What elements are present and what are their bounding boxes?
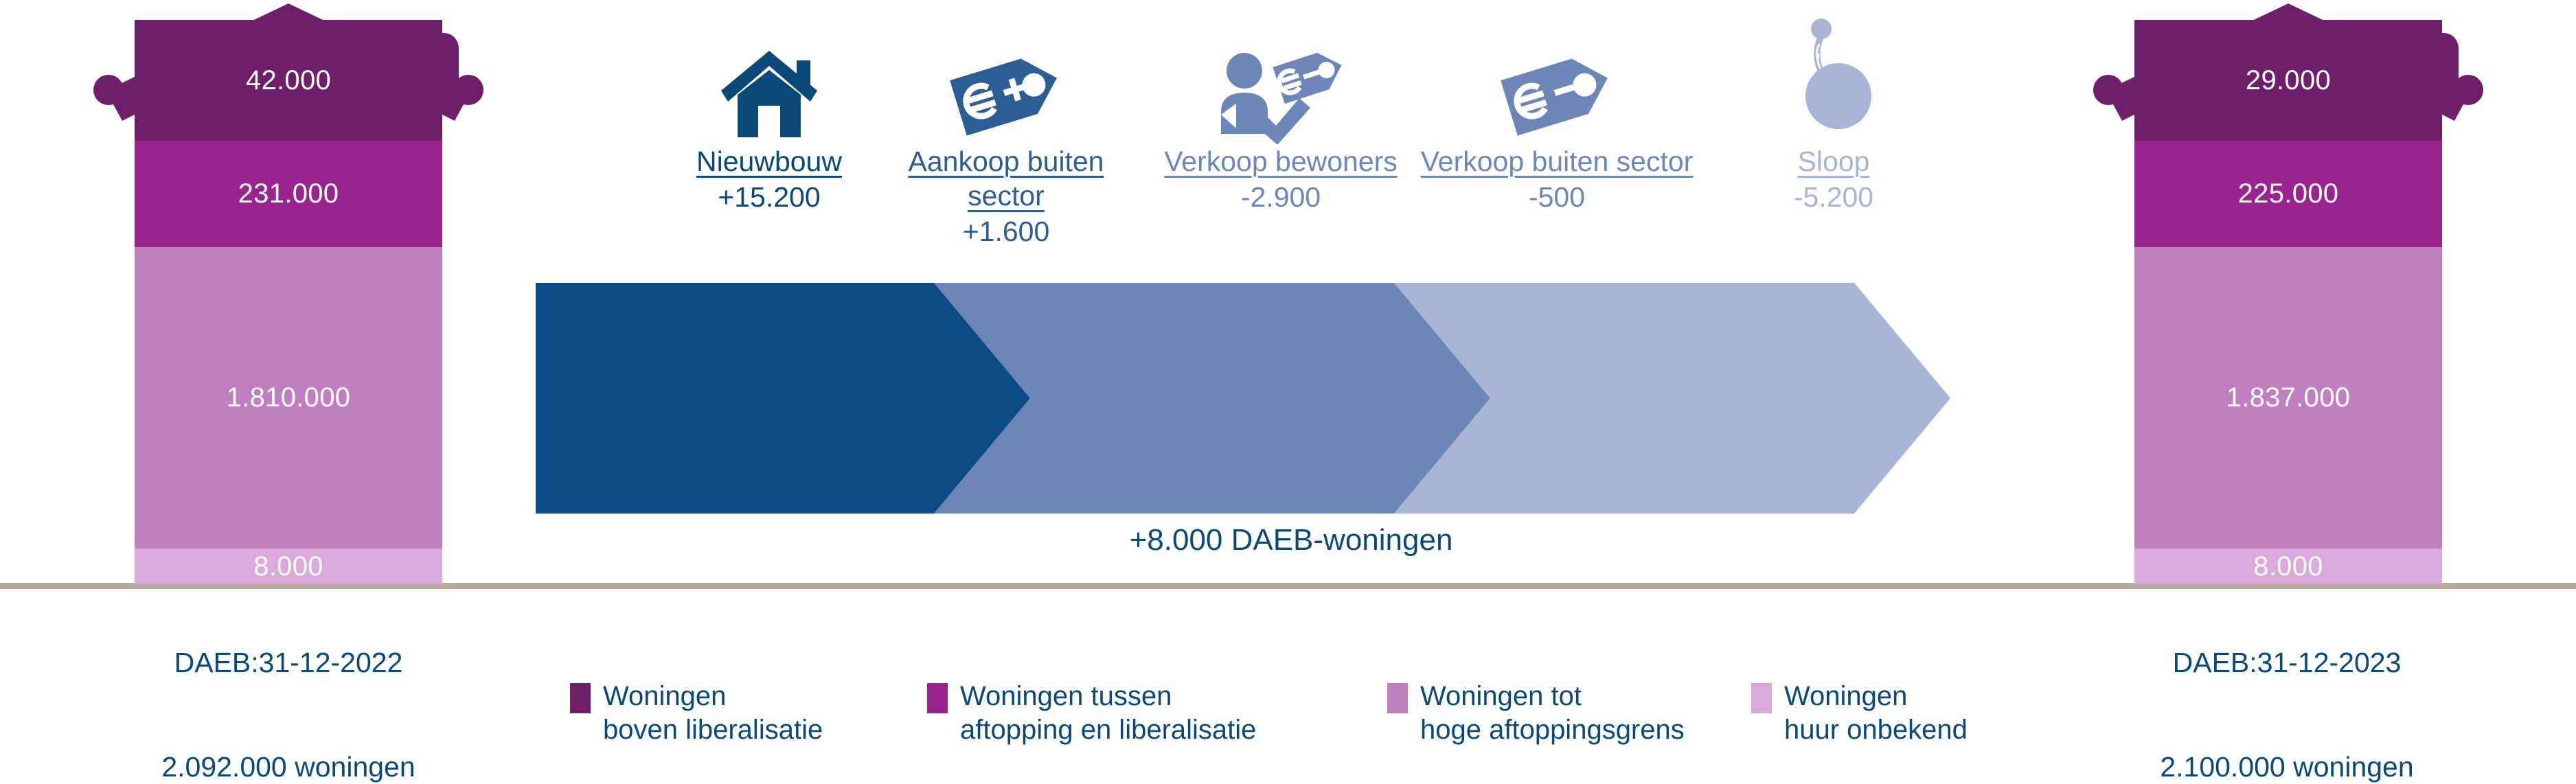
segment-boven-liberalisatie: 29.000	[2134, 20, 2442, 141]
flow-item-sloop[interactable]: Sloop -5.200	[1696, 7, 1971, 214]
segment-hoge-aftoppingsgrens: 1.837.000	[2134, 247, 2442, 549]
legend-item-huur-onbekend[interactable]: Woningen huur onbekend	[1751, 680, 1968, 747]
flow-items: Nieuwbouw +15.200	[639, 7, 1964, 275]
flow-label: Aankoop buiten sector	[869, 144, 1143, 213]
legend-item-hoge-aftoppingsgrens[interactable]: Woningen tot hoge aftoppingsgrens	[1387, 680, 1685, 747]
chevron-segment-1	[536, 283, 1030, 514]
flow-label: Nieuwbouw	[632, 144, 907, 178]
house-left-caption: DAEB:31-12-2022 2.092.000 woningen	[0, 611, 597, 784]
flow-item-aankoop-buiten-sector[interactable]: Aankoop buiten sector +1.600	[869, 7, 1143, 249]
segment-aftopping-liberalisatie: 225.000	[2134, 141, 2442, 247]
flow-item-verkoop-buiten-sector[interactable]: Verkoop buiten sector -500	[1420, 7, 1694, 214]
flow-value: -5.200	[1696, 180, 1971, 214]
flow-chevron-band	[536, 283, 2033, 514]
wrecking-ball-icon	[1696, 7, 1971, 144]
caption-total-right: 2.100.000 woningen	[2160, 751, 2413, 783]
flow-label: Verkoop buiten sector	[1420, 144, 1694, 178]
stacked-bar-right: 29.000 225.000 1.837.000 8.000	[2134, 20, 2442, 584]
flow-label: Verkoop bewoners	[1143, 144, 1418, 178]
segment-aftopping-liberalisatie: 231.000	[135, 141, 442, 247]
person-sale-icon	[1143, 7, 1418, 144]
caption-total-left: 2.092.000 woningen	[161, 751, 415, 783]
legend-item-aftopping-liberalisatie[interactable]: Woningen tussen aftopping en liberalisat…	[927, 680, 1256, 747]
flow-value: -2.900	[1143, 180, 1418, 214]
net-change-note: +8.000 DAEB-woningen	[810, 523, 1772, 557]
flow-item-verkoop-bewoners[interactable]: Verkoop bewoners -2.900	[1143, 7, 1418, 214]
flow-label: Sloop	[1696, 144, 1971, 178]
house-left: 42.000 231.000 1.810.000 8.000	[76, 0, 501, 604]
legend-swatch	[1751, 683, 1772, 713]
infographic-root: 42.000 231.000 1.810.000 8.000 DAEB:31-1…	[0, 0, 2576, 773]
house-right: 29.000 225.000 1.837.000 8.000	[2075, 0, 2501, 604]
segment-hoge-aftoppingsgrens: 1.810.000	[135, 247, 442, 549]
price-tag-minus-icon	[1420, 7, 1694, 144]
stacked-bar-left: 42.000 231.000 1.810.000 8.000	[135, 20, 442, 584]
legend-label: Woningen tussen aftopping en liberalisat…	[960, 680, 1256, 747]
flow-value: +1.600	[869, 214, 1143, 249]
legend-item-boven-liberalisatie[interactable]: Woningen boven liberalisatie	[570, 680, 823, 747]
legend-swatch	[927, 683, 948, 713]
legend-label: Woningen boven liberalisatie	[603, 680, 823, 747]
flow-value: -500	[1420, 180, 1694, 214]
segment-huur-onbekend: 8.000	[2134, 549, 2442, 584]
segment-boven-liberalisatie: 42.000	[135, 20, 442, 141]
house-icon	[632, 7, 907, 144]
legend: Woningen boven liberalisatie Woningen tu…	[570, 680, 2081, 769]
legend-swatch	[570, 683, 591, 713]
caption-date-right: DAEB:31-12-2023	[2173, 647, 2402, 678]
legend-swatch	[1387, 683, 1408, 713]
caption-date-left: DAEB:31-12-2022	[174, 647, 403, 678]
flow-value: +15.200	[632, 180, 907, 214]
segment-huur-onbekend: 8.000	[135, 549, 442, 584]
price-tag-plus-icon	[869, 7, 1143, 144]
legend-label: Woningen tot hoge aftoppingsgrens	[1420, 680, 1685, 747]
legend-label: Woningen huur onbekend	[1784, 680, 1968, 747]
flow-item-nieuwbouw[interactable]: Nieuwbouw +15.200	[632, 7, 907, 214]
